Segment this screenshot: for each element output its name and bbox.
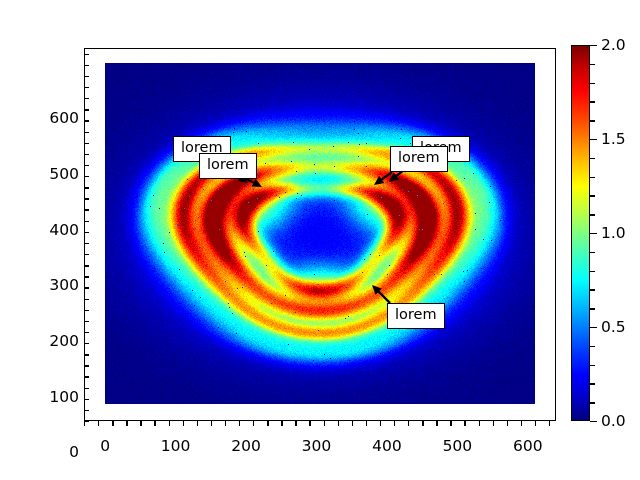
annotation-arrow [0,0,640,480]
annotation-label[interactable]: lorem [199,153,257,179]
figure-root: 0100200300400500600 0100200300400500600 … [0,0,640,480]
annotation-label[interactable]: lorem [390,146,448,172]
annotation-layer: loremloremloremloremlorem [0,0,640,480]
